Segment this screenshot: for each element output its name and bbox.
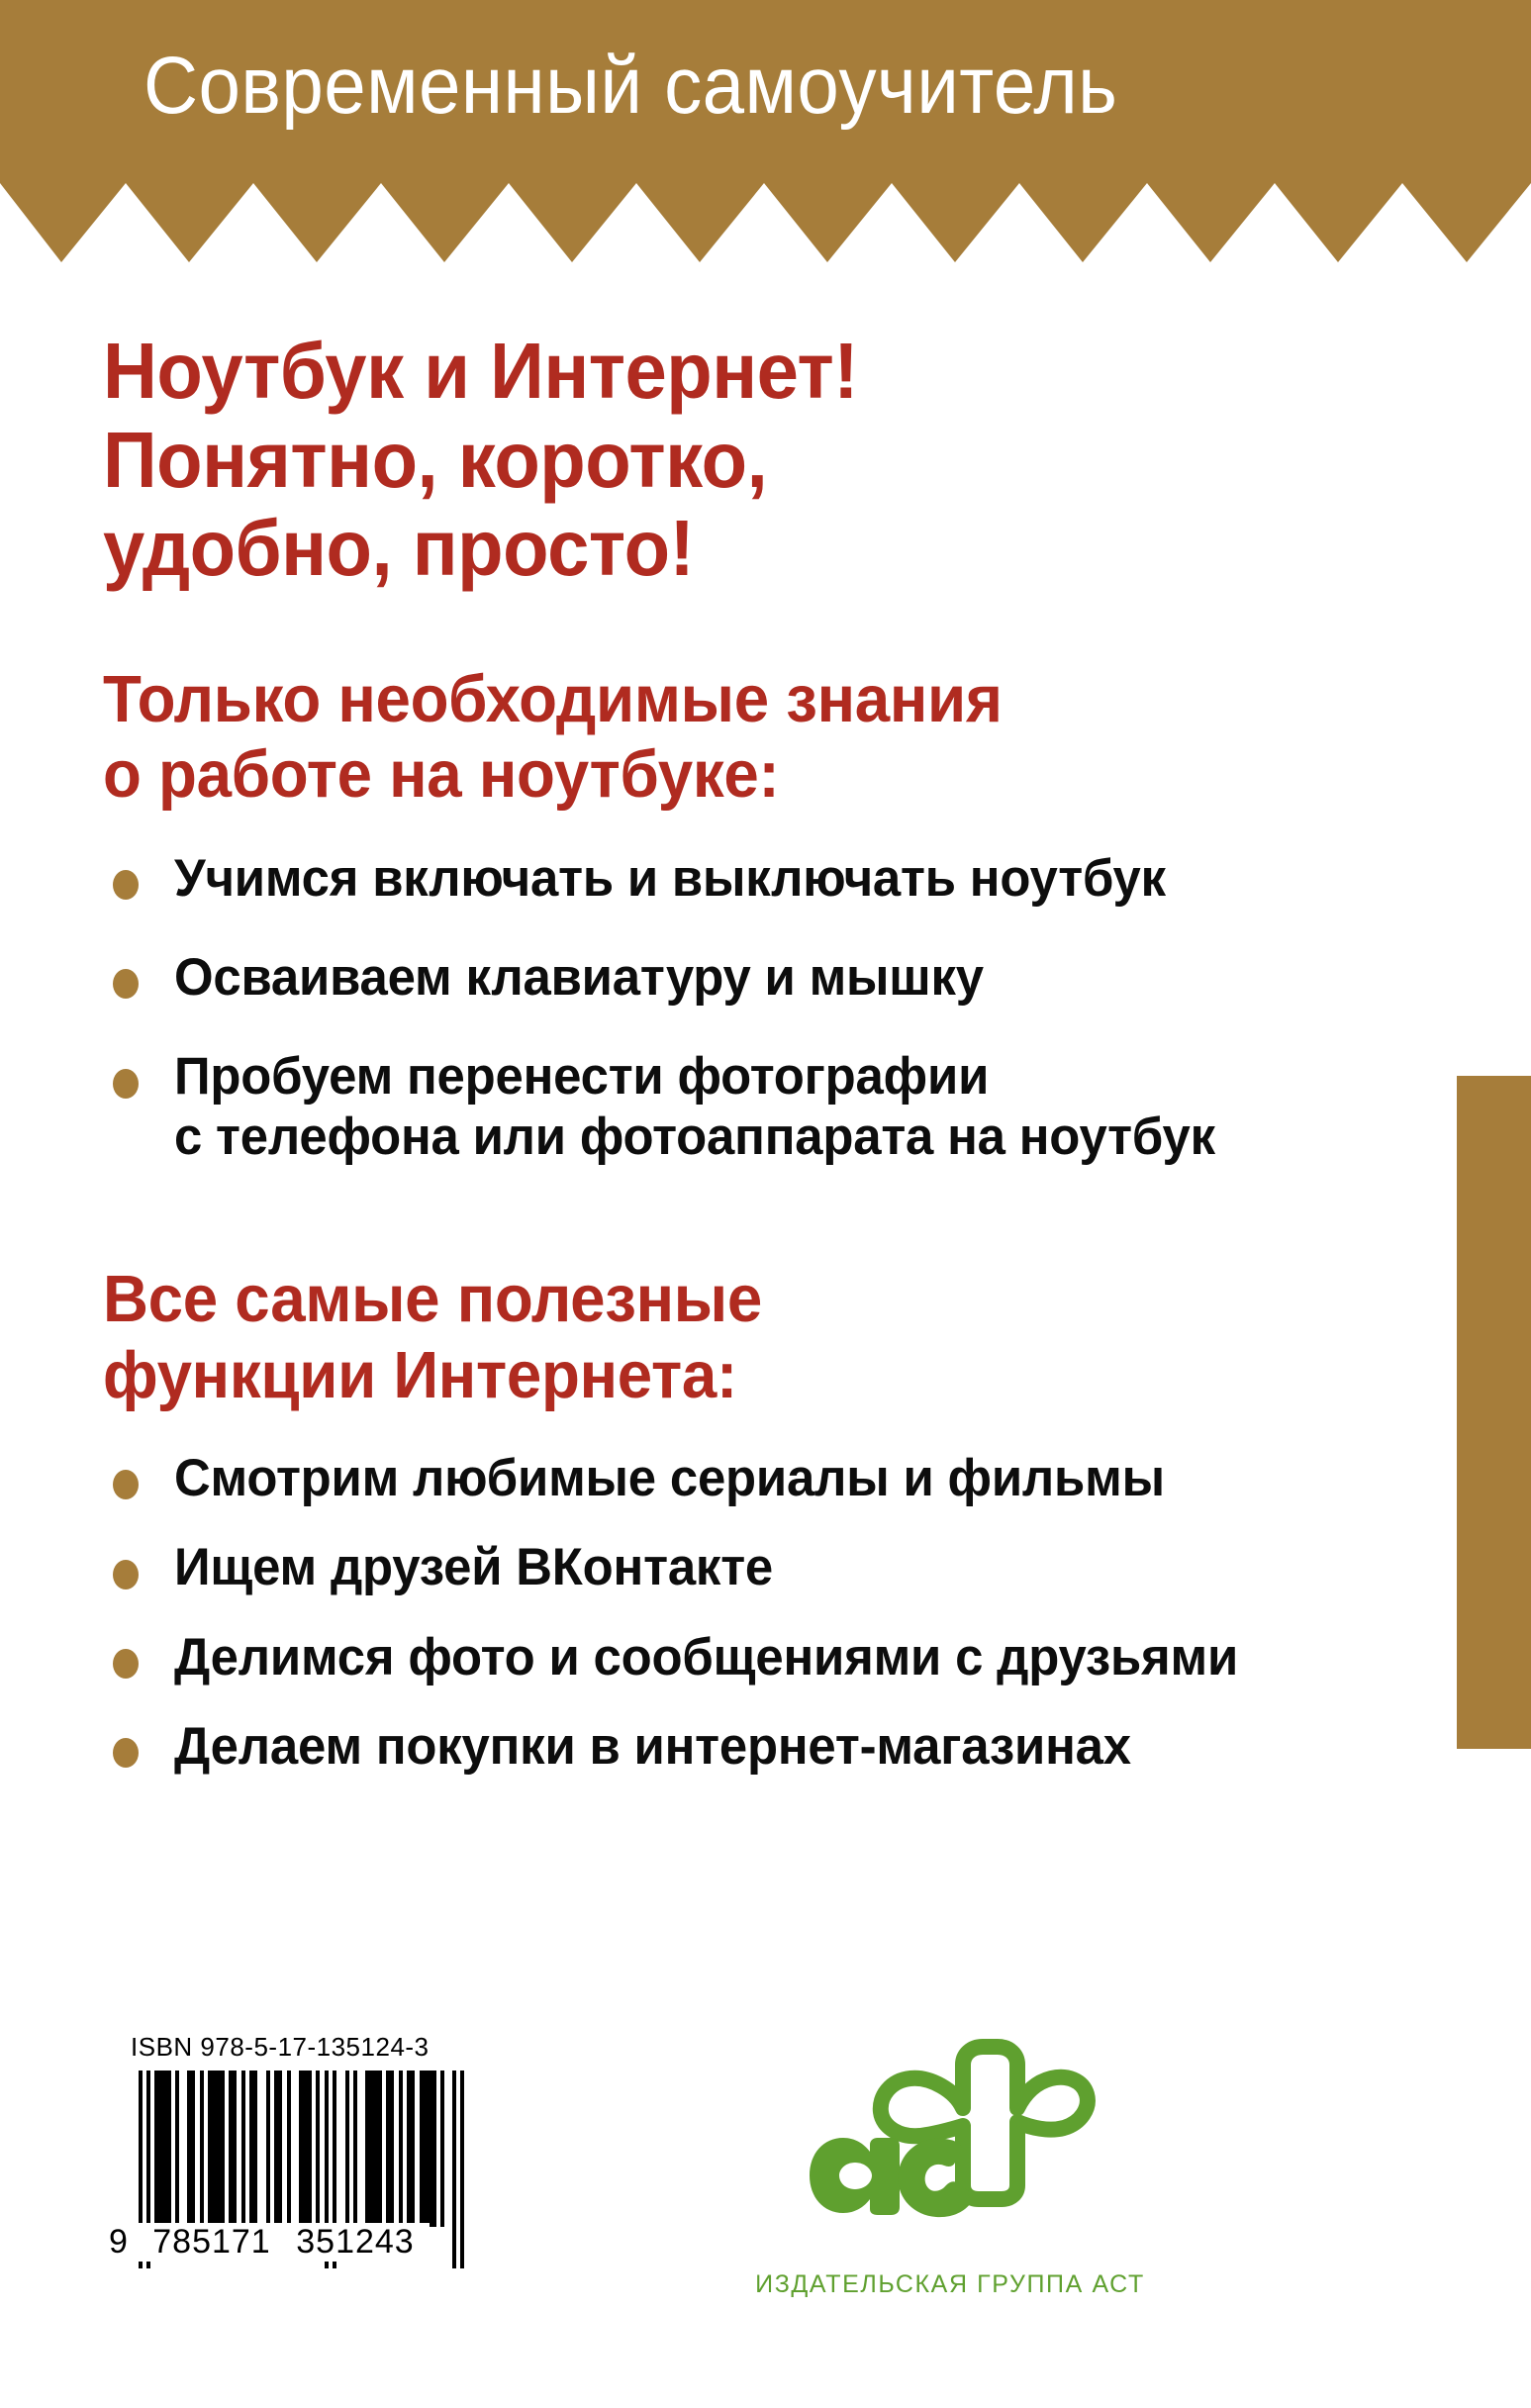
list-item-text: Пробуем перенести фотографии с телефона … bbox=[174, 1047, 1419, 1167]
spacer bbox=[103, 1413, 1419, 1449]
list-item-line: с телефона или фотоаппарата на ноутбук bbox=[174, 1108, 1370, 1167]
list-item-line: Делимся фото и сообщениями с друзьями bbox=[174, 1628, 1370, 1687]
barcode-digits-right: 351243 bbox=[281, 2223, 430, 2262]
list-item: Ищем друзей ВКонтакте bbox=[103, 1538, 1419, 1597]
isbn-label: ISBN 978-5-17-135124-3 bbox=[131, 2032, 477, 2063]
barcode-digit-lead: 9 bbox=[109, 2223, 143, 2262]
bullet-dot-icon bbox=[113, 1470, 139, 1499]
feature-list-1: Учимся включать и выключать ноутбук Осва… bbox=[103, 849, 1419, 1168]
bullet-dot-icon bbox=[113, 870, 139, 900]
series-banner: Современный самоучитель bbox=[0, 0, 1531, 262]
list-item-line: Ищем друзей ВКонтакте bbox=[174, 1538, 1370, 1597]
list-item-line: Пробуем перенести фотографии bbox=[174, 1047, 1370, 1107]
bullet-dot-icon bbox=[113, 1069, 139, 1099]
main-content: Ноутбук и Интернет! Понятно, коротко, уд… bbox=[103, 327, 1419, 1778]
publisher-logo-block: ИЗДАТЕЛЬСКАЯ ГРУППА АСТ bbox=[752, 2019, 1148, 2299]
list-item: Пробуем перенести фотографии с телефона … bbox=[103, 1047, 1419, 1167]
section-heading-1: Только необходимые знания о работе на но… bbox=[103, 662, 1354, 814]
book-back-cover: Современный самоучитель Ноутбук и Интерн… bbox=[0, 0, 1531, 2408]
barcode-digits: 9 785171 351243 bbox=[109, 2223, 477, 2262]
side-accent-bar bbox=[1457, 1076, 1531, 1749]
list-item-line: Делаем покупки в интернет-магазинах bbox=[174, 1717, 1370, 1777]
section-heading-1-line-2: о работе на ноутбуке: bbox=[103, 737, 1354, 813]
spacer bbox=[103, 1167, 1419, 1262]
book-title-line-1: Ноутбук и Интернет! bbox=[103, 327, 1354, 416]
barcode-digits-left: 785171 bbox=[143, 2223, 281, 2262]
section-heading-2-line-1: Все самые полезные bbox=[103, 1262, 1354, 1337]
list-item-text: Делаем покупки в интернет-магазинах bbox=[174, 1717, 1419, 1777]
list-item-line: Учимся включать и выключать ноутбук bbox=[174, 849, 1370, 909]
list-item: Осваиваем клавиатуру и мышку bbox=[103, 948, 1419, 1008]
bullet-dot-icon bbox=[113, 1560, 139, 1589]
bullet-dot-icon bbox=[113, 1649, 139, 1679]
list-item-text: Осваиваем клавиатуру и мышку bbox=[174, 948, 1419, 1008]
list-item-text: Учимся включать и выключать ноутбук bbox=[174, 849, 1419, 909]
barcode-block: ISBN 978-5-17-135124-3 bbox=[109, 2032, 477, 2262]
bullet-dot-icon bbox=[113, 969, 139, 999]
feature-list-2: Смотрим любимые сериалы и фильмы Ищем др… bbox=[103, 1449, 1419, 1778]
list-item-text: Делимся фото и сообщениями с друзьями bbox=[174, 1628, 1419, 1687]
banner-zigzag-shape bbox=[0, 0, 1531, 262]
list-item-text: Ищем друзей ВКонтакте bbox=[174, 1538, 1419, 1597]
series-title: Современный самоучитель bbox=[144, 44, 1117, 129]
list-item-line: Смотрим любимые сериалы и фильмы bbox=[174, 1449, 1370, 1508]
spacer bbox=[103, 593, 1419, 662]
bullet-dot-icon bbox=[113, 1738, 139, 1768]
section-heading-1-line-1: Только необходимые знания bbox=[103, 662, 1354, 737]
list-item: Смотрим любимые сериалы и фильмы bbox=[103, 1449, 1419, 1508]
list-item-text: Смотрим любимые сериалы и фильмы bbox=[174, 1449, 1419, 1508]
list-item-line: Осваиваем клавиатуру и мышку bbox=[174, 948, 1370, 1008]
book-title-line-3: удобно, просто! bbox=[103, 504, 1354, 593]
ast-logo-icon bbox=[752, 2019, 1148, 2266]
list-item: Делимся фото и сообщениями с друзьями bbox=[103, 1628, 1419, 1687]
section-heading-2: Все самые полезные функции Интернета: bbox=[103, 1262, 1354, 1413]
publisher-caption: ИЗДАТЕЛЬСКАЯ ГРУППА АСТ bbox=[752, 2270, 1148, 2299]
list-item: Учимся включать и выключать ноутбук bbox=[103, 849, 1419, 909]
book-title: Ноутбук и Интернет! Понятно, коротко, уд… bbox=[103, 327, 1354, 593]
list-item: Делаем покупки в интернет-магазинах bbox=[103, 1717, 1419, 1777]
book-title-line-2: Понятно, коротко, bbox=[103, 416, 1354, 505]
spacer bbox=[103, 814, 1419, 849]
section-heading-2-line-2: функции Интернета: bbox=[103, 1338, 1354, 1413]
